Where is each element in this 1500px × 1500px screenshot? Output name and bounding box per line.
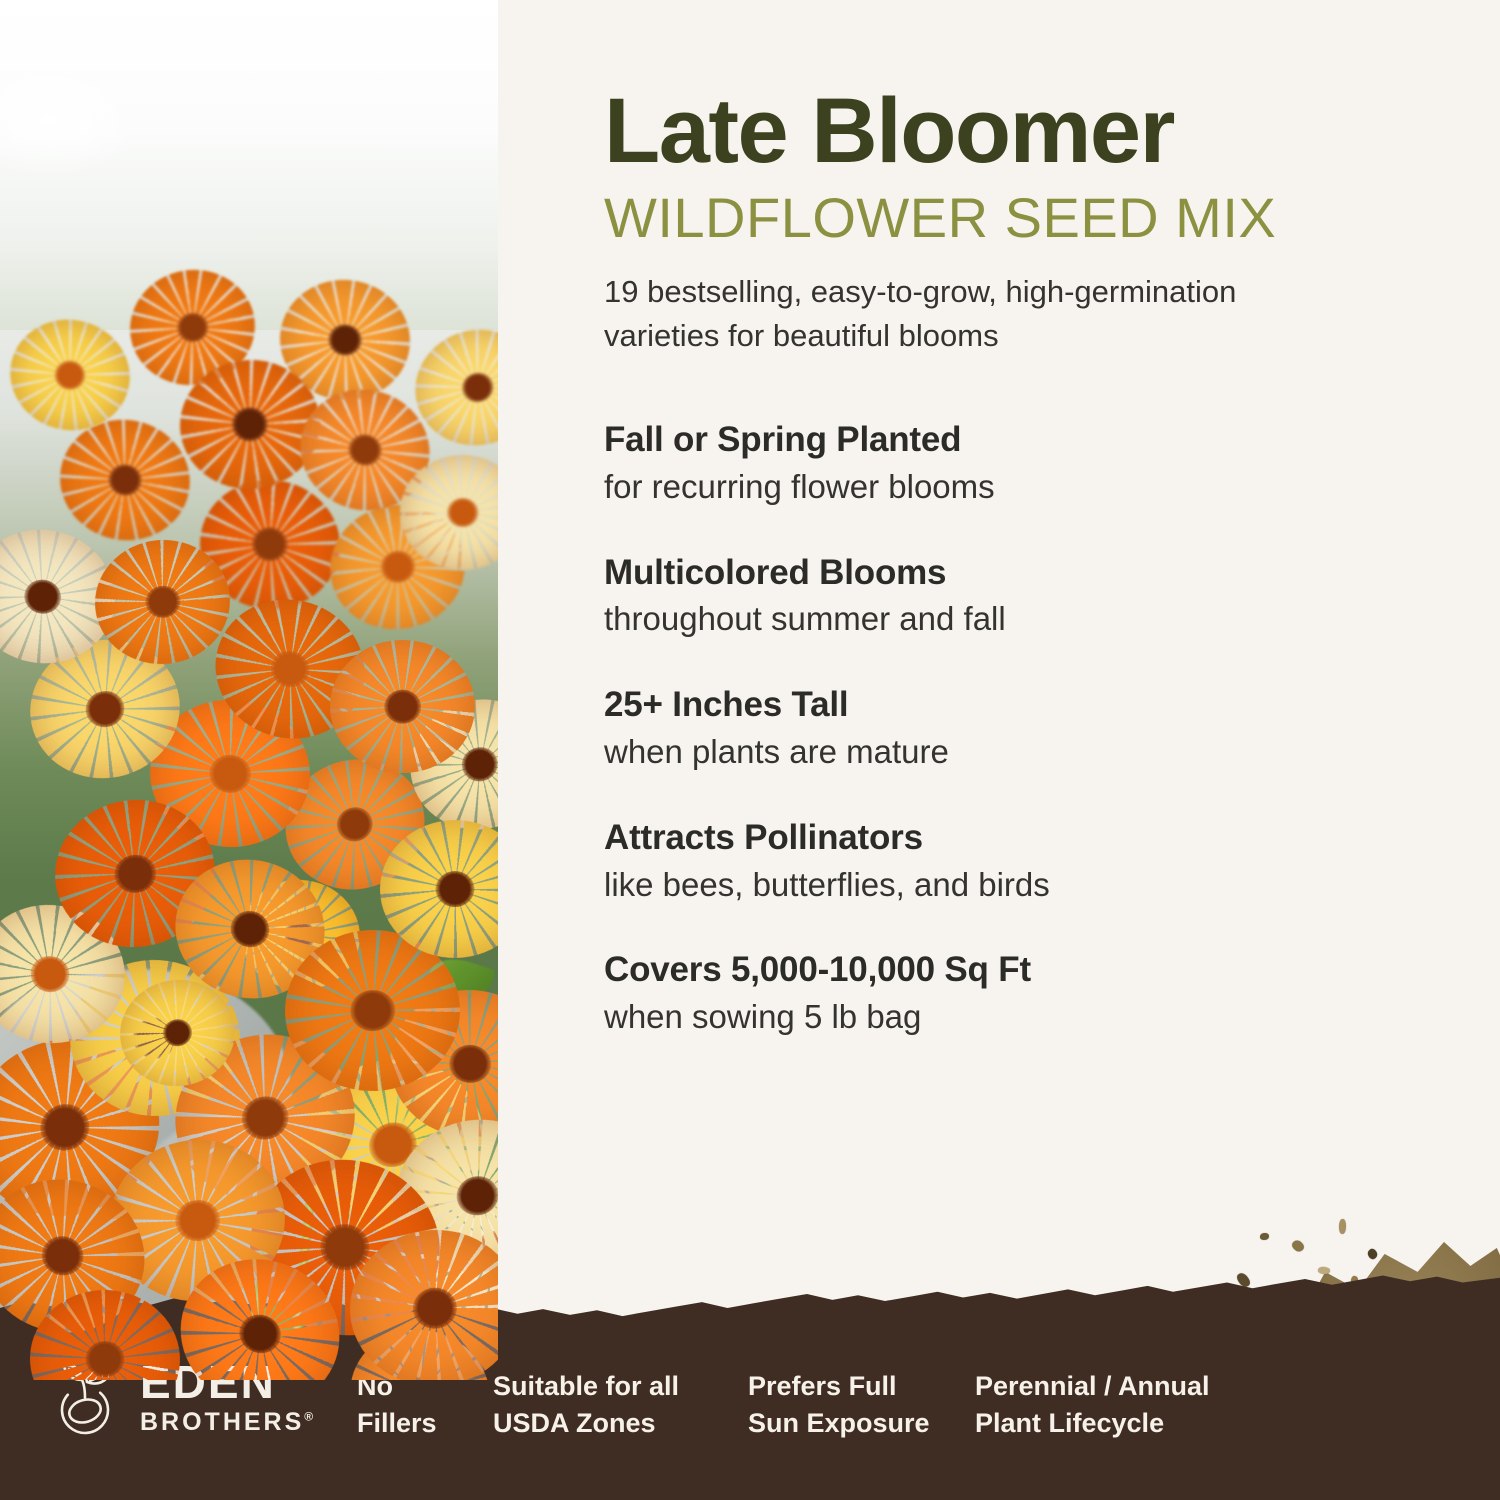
flower-center bbox=[446, 497, 479, 527]
seed-particle-loose bbox=[1260, 1233, 1269, 1240]
content-column: Late Bloomer WILDFLOWER SEED MIX 19 best… bbox=[604, 0, 1404, 1081]
product-description: 19 bestselling, easy-to-grow, high-germi… bbox=[604, 270, 1374, 358]
flower-center bbox=[172, 1197, 222, 1244]
flower-center bbox=[208, 753, 253, 795]
flower-center bbox=[458, 743, 498, 786]
flower-center bbox=[435, 871, 475, 908]
feature-subtext: when sowing 5 lb bag bbox=[604, 996, 1404, 1039]
flower-center bbox=[230, 406, 269, 443]
feature-item: 25+ Inches Tallwhen plants are mature bbox=[604, 683, 1404, 774]
feature-subtext: throughout summer and fall bbox=[604, 598, 1404, 641]
flower-center bbox=[161, 1017, 195, 1049]
flower-center bbox=[28, 953, 72, 995]
badge-line-1: Perennial / Annual bbox=[975, 1368, 1210, 1405]
flower-center bbox=[237, 1091, 293, 1144]
product-infographic: Late Bloomer WILDFLOWER SEED MIX 19 best… bbox=[0, 0, 1500, 1500]
seed-particle-loose bbox=[1290, 1238, 1305, 1254]
feature-heading: Covers 5,000-10,000 Sq Ft bbox=[604, 948, 1404, 992]
description-line-1: 19 bestselling, easy-to-grow, high-germi… bbox=[604, 274, 1236, 309]
seed-particle-loose bbox=[1318, 1266, 1331, 1275]
feature-item: Covers 5,000-10,000 Sq Ftwhen sowing 5 l… bbox=[604, 948, 1404, 1039]
feature-badge: Suitable for allUSDA Zones bbox=[493, 1368, 679, 1443]
badge-line-1: Prefers Full bbox=[748, 1368, 930, 1405]
feature-item: Attracts Pollinatorslike bees, butterfli… bbox=[604, 816, 1404, 907]
flower-center bbox=[349, 989, 396, 1032]
flower-center bbox=[143, 584, 181, 620]
badge-line-1: Suitable for all bbox=[493, 1368, 679, 1405]
feature-badge: Prefers FullSun Exposure bbox=[748, 1368, 930, 1443]
flower-center bbox=[105, 461, 145, 498]
flower-center bbox=[112, 852, 159, 896]
product-subtitle: WILDFLOWER SEED MIX bbox=[604, 185, 1404, 250]
feature-subtext: like bees, butterflies, and birds bbox=[604, 864, 1404, 907]
flower-center bbox=[448, 1043, 492, 1084]
flower-center bbox=[333, 803, 378, 846]
flower-center bbox=[452, 1172, 498, 1220]
feature-item: Multicolored Bloomsthroughout summer and… bbox=[604, 551, 1404, 642]
feature-subtext: when plants are mature bbox=[604, 731, 1404, 774]
badge-line-2: Fillers bbox=[357, 1405, 437, 1442]
seed-particle-loose bbox=[1366, 1247, 1379, 1260]
product-photo bbox=[0, 0, 498, 1380]
badge-line-2: Sun Exposure bbox=[748, 1405, 930, 1442]
feature-list: Fall or Spring Plantedfor recurring flow… bbox=[604, 418, 1404, 1039]
feature-heading: Fall or Spring Planted bbox=[604, 418, 1404, 462]
feature-badge-row: NoFillersSuitable for allUSDA ZonesPrefe… bbox=[0, 1368, 1500, 1468]
badge-line-2: Plant Lifecycle bbox=[975, 1405, 1210, 1442]
flower-center bbox=[458, 369, 497, 407]
flower-center bbox=[377, 548, 418, 586]
feature-heading: Multicolored Blooms bbox=[604, 551, 1404, 595]
flower-center bbox=[266, 646, 314, 692]
page-title: Late Bloomer bbox=[604, 85, 1404, 179]
feature-heading: Attracts Pollinators bbox=[604, 816, 1404, 860]
flower-center bbox=[326, 322, 363, 357]
feature-heading: 25+ Inches Tall bbox=[604, 683, 1404, 727]
flower-center bbox=[36, 1231, 88, 1281]
flower-center bbox=[344, 430, 386, 470]
feature-badge: Perennial / AnnualPlant Lifecycle bbox=[975, 1368, 1210, 1443]
flower-center bbox=[21, 576, 65, 617]
feature-subtext: for recurring flower blooms bbox=[604, 466, 1404, 509]
flower-center bbox=[227, 907, 274, 952]
feature-item: Fall or Spring Plantedfor recurring flow… bbox=[604, 418, 1404, 509]
flower-center bbox=[234, 1309, 286, 1359]
flower-center bbox=[34, 1098, 96, 1158]
badge-line-2: USDA Zones bbox=[493, 1405, 679, 1442]
flower-center bbox=[412, 1286, 459, 1330]
flower-center bbox=[250, 526, 290, 563]
photo-highlight bbox=[0, 60, 140, 180]
flower-center bbox=[384, 689, 422, 724]
description-line-2: varieties for beautiful blooms bbox=[604, 318, 999, 353]
flower-center bbox=[174, 310, 211, 345]
flower-bloom bbox=[330, 640, 475, 773]
flower-center bbox=[82, 687, 128, 730]
seed-particle-loose bbox=[1338, 1219, 1346, 1234]
flower-center bbox=[52, 358, 89, 393]
flower-center bbox=[85, 1340, 125, 1377]
